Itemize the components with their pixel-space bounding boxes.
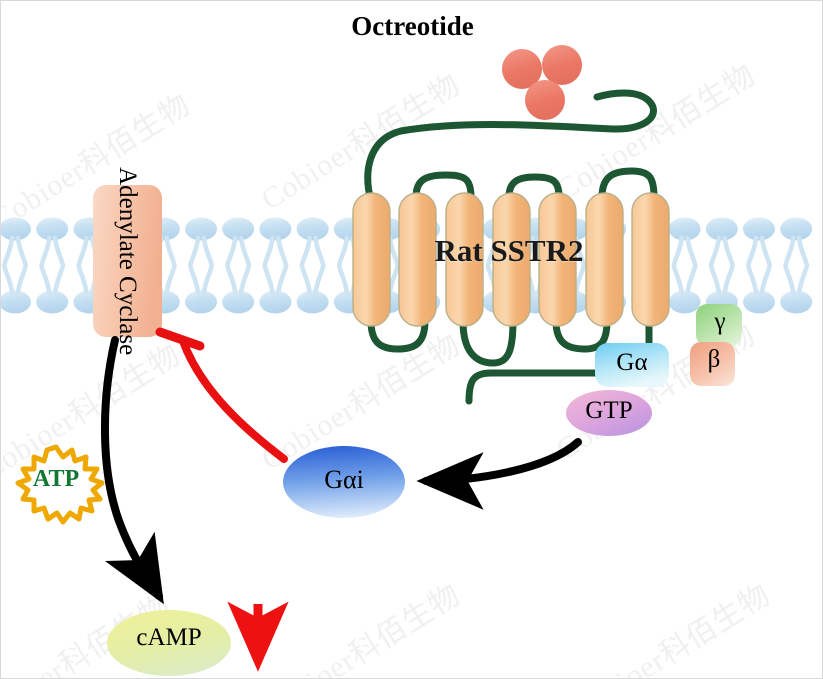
diagram-canvas: Cobioer科佰生物 Cobioer科佰生物 Cobioer科佰生物 Cobi… — [0, 0, 823, 679]
phospholipid — [222, 218, 254, 266]
adenylate-cyclase-label-text: Adenylate Cyclase — [114, 167, 140, 355]
receptor-label: Rat SSTR2 — [353, 233, 665, 269]
gai-inhibits-adenylate-cyclase-arrow — [183, 341, 284, 459]
phospholipid — [706, 218, 738, 266]
adenylate-cyclase-label: Adenylate Cyclase — [94, 186, 160, 336]
phospholipid — [780, 218, 812, 266]
gtp-label: GTP — [566, 397, 652, 425]
phospholipid — [743, 266, 775, 314]
beta-label: β — [692, 346, 736, 374]
atp-label: ATP — [15, 466, 97, 493]
camp-label: cAMP — [109, 624, 229, 652]
phospholipid — [669, 218, 701, 266]
phospholipid — [36, 218, 68, 266]
phospholipid — [297, 266, 329, 314]
phospholipid — [669, 266, 701, 314]
gtp-to-gai-arrow — [426, 442, 578, 481]
octreotide-label: Octreotide — [1, 11, 823, 42]
phospholipid — [297, 218, 329, 266]
phospholipid — [1, 218, 31, 266]
gamma-label: γ — [698, 308, 742, 336]
phospholipid — [259, 218, 291, 266]
octreotide-ligand — [502, 45, 582, 120]
phospholipid — [36, 266, 68, 314]
phospholipid — [185, 218, 217, 266]
g-alpha-label: Gα — [596, 349, 668, 377]
phospholipid — [259, 266, 291, 314]
phospholipid — [780, 266, 812, 314]
g-alpha-i-label: Gαi — [284, 465, 404, 495]
phospholipid — [743, 218, 775, 266]
phospholipid — [185, 266, 217, 314]
adenylate-cyclase-to-camp-arrow — [105, 340, 159, 596]
phospholipid — [222, 266, 254, 314]
phospholipid — [1, 266, 31, 314]
